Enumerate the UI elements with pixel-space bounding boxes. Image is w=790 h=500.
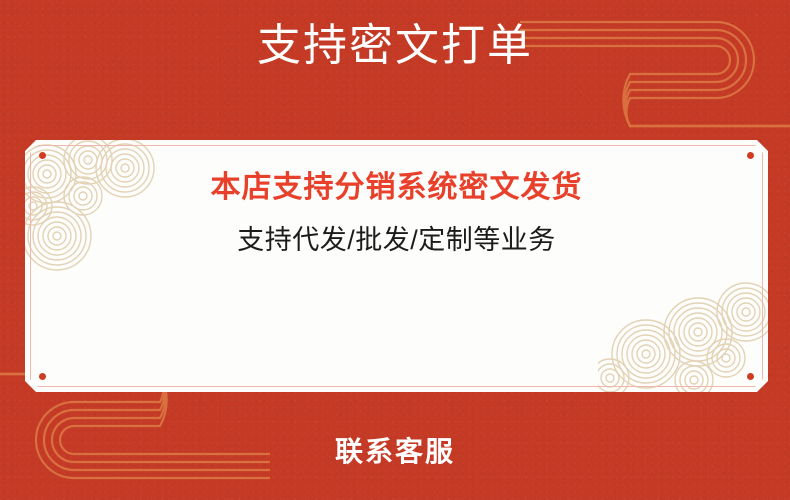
- contact-support-cta[interactable]: 联系客服: [0, 434, 790, 470]
- card-text-block: 本店支持分销系统密文发货 支持代发/批发/定制等业务: [25, 140, 768, 392]
- promo-banner: 支持密文打单: [0, 0, 790, 500]
- banner-headline: 支持密文打单: [0, 20, 790, 72]
- content-card: 本店支持分销系统密文发货 支持代发/批发/定制等业务: [25, 140, 768, 392]
- card-title: 本店支持分销系统密文发货: [211, 168, 583, 208]
- card-subtitle: 支持代发/批发/定制等业务: [237, 222, 556, 258]
